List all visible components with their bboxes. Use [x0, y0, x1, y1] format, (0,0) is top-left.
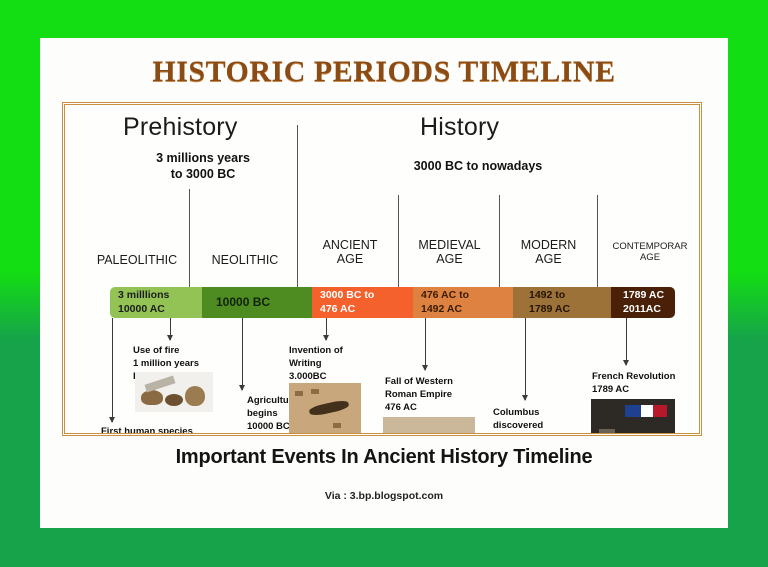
bar-segment-medieval-age: 476 AC to 1492 AC — [413, 287, 513, 318]
white-card: HISTORIC PERIODS TIMELINE Prehistory His… — [40, 38, 728, 528]
era-subtitle-history: 3000 BC to nowadays — [353, 159, 603, 175]
period-label-medieval-age: MEDIEVAL AGE — [402, 238, 497, 267]
event-label-columbus: Columbus discovered America 1492 AC — [493, 407, 543, 436]
timeline-bar: 3 milllions 10000 AC 10000 BC 3000 BC to… — [110, 287, 675, 318]
bar-segment-ancient-age: 3000 BC to 476 AC — [312, 287, 413, 318]
arrow-writing — [326, 318, 327, 340]
event-label-writing: Invention of Writing 3.000BC — [289, 345, 343, 383]
divider-modern-contemporary — [597, 195, 598, 288]
event-label-french-revolution: French Revolution 1789 AC — [592, 371, 675, 397]
arrow-use-of-fire — [170, 318, 171, 340]
event-label-roman-empire: Fall of Western Roman Empire 476 AC — [385, 376, 453, 414]
period-label-contemporary-age: CONTEMPORAR AGE — [600, 242, 700, 264]
cuneiform-tablet-photo — [289, 383, 361, 436]
era-subtitle-prehistory: 3 millions years to 3000 BC — [103, 151, 303, 182]
bar-segment-neolithic: 10000 BC — [202, 287, 312, 318]
timeline-inner: Prehistory History 3 millions years to 3… — [65, 105, 699, 433]
era-title-prehistory: Prehistory — [123, 113, 238, 142]
arrow-first-human-species — [112, 318, 113, 422]
timeline-frame: Prehistory History 3 millions years to 3… — [62, 102, 702, 436]
period-label-ancient-age: ANCIENT AGE — [305, 238, 395, 267]
divider-medieval-modern — [499, 195, 500, 288]
arrow-french-revolution — [626, 318, 627, 365]
period-label-modern-age: MODERN AGE — [502, 238, 595, 267]
event-label-first-human-species: First human species 2.5 millions years B… — [101, 426, 197, 436]
french-revolution-photo — [591, 399, 675, 436]
era-title-history: History — [420, 113, 499, 142]
page-title: HISTORIC PERIODS TIMELINE — [40, 55, 728, 89]
arrow-columbus — [525, 318, 526, 400]
divider-ancient-medieval — [398, 195, 399, 288]
caption-text: Important Events In Ancient History Time… — [40, 446, 728, 469]
use-of-fire-photo — [135, 372, 213, 412]
bar-segment-modern-age: 1492 to 1789 AC — [513, 287, 611, 318]
arrow-roman-empire — [425, 318, 426, 370]
source-credit: Via : 3.bp.blogspot.com — [40, 490, 728, 502]
arrow-agriculture — [242, 318, 243, 390]
period-label-paleolithic: PALEOLITHIC — [85, 253, 189, 267]
roman-empire-photo — [383, 417, 475, 436]
bar-segment-contemporary-age: 1789 AC 2011AC — [611, 287, 675, 318]
divider-prehistory-history — [297, 125, 298, 288]
bar-segment-paleolithic: 3 milllions 10000 AC — [110, 287, 202, 318]
infographic-canvas: HISTORIC PERIODS TIMELINE Prehistory His… — [0, 0, 768, 567]
divider-paleolithic-neolithic — [189, 189, 190, 288]
period-label-neolithic: NEOLITHIC — [195, 253, 295, 267]
